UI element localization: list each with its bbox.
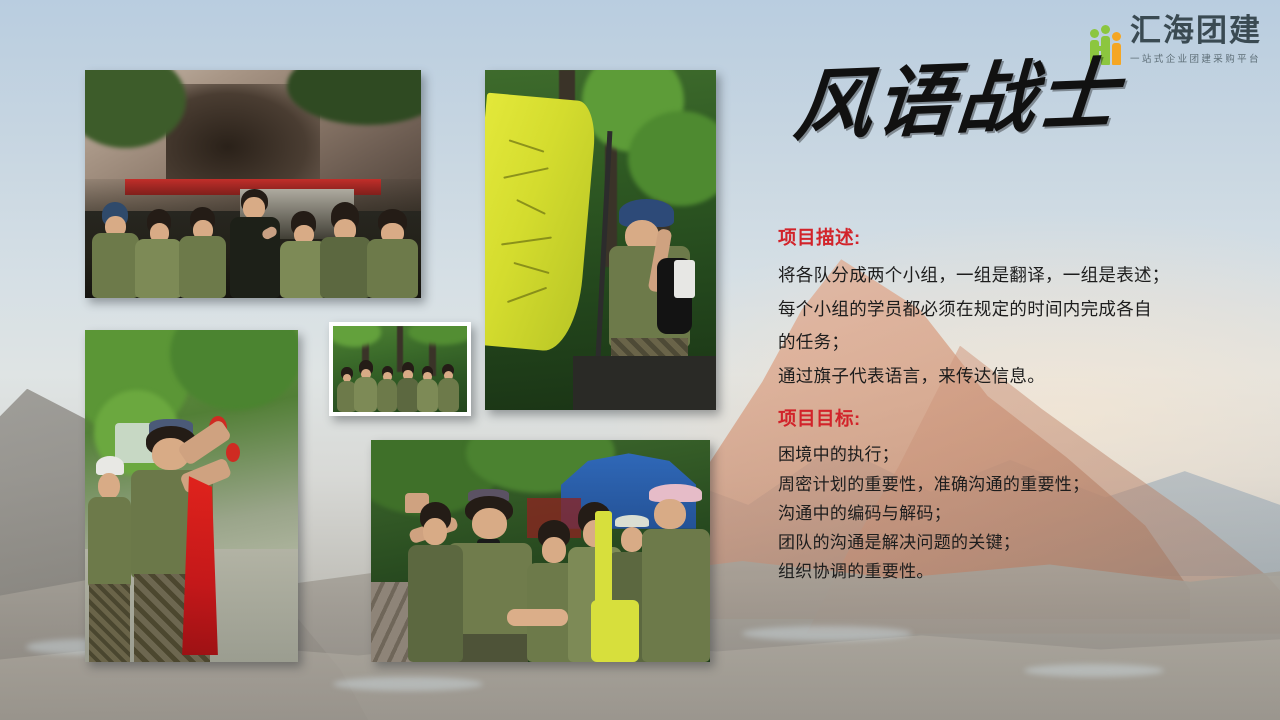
photo-yellow-flag[interactable] — [485, 70, 716, 410]
description-line: 通过旗子代表语言，来传达信息。 — [778, 360, 1270, 394]
goal-line: 团队的沟通是解决问题的关键； — [778, 528, 1270, 557]
goals-block: 项目目标: 困境中的执行； 周密计划的重要性，准确沟通的重要性； 沟通中的编码与… — [778, 405, 1270, 586]
photo-team-group[interactable] — [371, 440, 710, 662]
ground-ice-patch — [1024, 664, 1164, 677]
goal-line: 困境中的执行； — [778, 440, 1270, 469]
goal-line: 组织协调的重要性。 — [778, 557, 1270, 586]
description-line: 的任务； — [778, 326, 1270, 360]
goal-line: 周密计划的重要性，准确沟通的重要性； — [778, 470, 1270, 499]
goal-line: 沟通中的编码与解码； — [778, 499, 1270, 528]
slide-canvas: 汇海团建 一站式企业团建采购平台 风语战士 — [0, 0, 1280, 720]
page-title: 风语战士 — [791, 56, 1123, 146]
description-heading: 项目描述: — [778, 224, 1270, 250]
ground-ice-patch — [742, 626, 912, 641]
photo-small-group[interactable] — [329, 322, 471, 416]
description-line: 每个小组的学员都必须在规定的时间内完成各自 — [778, 293, 1270, 327]
photo-red-flag-pointing[interactable] — [85, 330, 298, 662]
description-line: 将各队分成两个小组，一组是翻译，一组是表述； — [778, 259, 1270, 293]
goals-heading: 项目目标: — [778, 405, 1270, 431]
logo-name: 汇海团建 — [1130, 16, 1262, 47]
logo-tagline: 一站式企业团建采购平台 — [1130, 51, 1261, 65]
content-panel: 项目描述: 将各队分成两个小组，一组是翻译，一组是表述； 每个小组的学员都必须在… — [778, 224, 1270, 587]
description-block: 项目描述: 将各队分成两个小组，一组是翻译，一组是表述； 每个小组的学员都必须在… — [778, 224, 1270, 393]
photo-instructor-briefing[interactable] — [85, 70, 421, 298]
